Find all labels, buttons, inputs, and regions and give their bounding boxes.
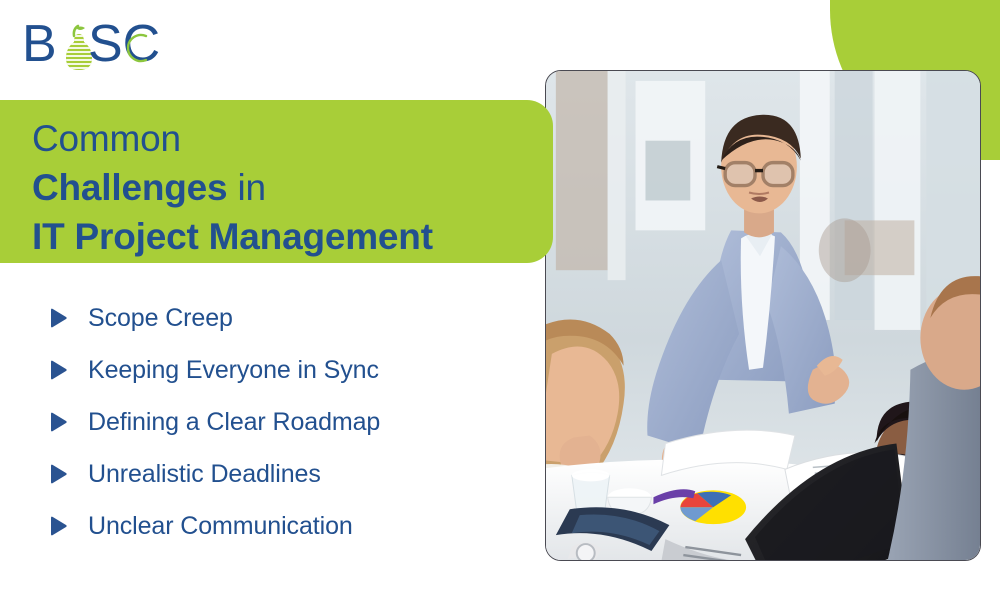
list-item-label: Keeping Everyone in Sync	[88, 356, 379, 385]
heading-line-1: Common	[32, 114, 553, 163]
list-item[interactable]: Keeping Everyone in Sync	[46, 344, 516, 396]
bosc-logo-mark: B	[22, 14, 167, 76]
triangle-right-icon	[46, 306, 70, 330]
heading-banner: Common Challenges in IT Project Manageme…	[0, 100, 553, 263]
svg-text:B: B	[22, 15, 57, 73]
heading-line-2: Challenges in	[32, 163, 553, 212]
svg-text:SC: SC	[88, 15, 160, 73]
list-item-label: Unclear Communication	[88, 512, 353, 541]
meeting-photo-illustration	[546, 71, 980, 560]
heading-line-3-bold: IT Project Management	[32, 216, 433, 257]
heading-line-2-bold: Challenges	[32, 167, 227, 208]
brand-logo[interactable]: B	[22, 14, 167, 76]
challenge-list: Scope Creep Keeping Everyone in Sync Def…	[46, 292, 516, 552]
triangle-right-icon	[46, 462, 70, 486]
list-item[interactable]: Unclear Communication	[46, 500, 516, 552]
heading-line-2-rest: in	[227, 167, 265, 208]
list-item[interactable]: Defining a Clear Roadmap	[46, 396, 516, 448]
list-item[interactable]: Unrealistic Deadlines	[46, 448, 516, 500]
triangle-right-icon	[46, 514, 70, 538]
heading-line-1-text: Common	[32, 118, 181, 159]
triangle-right-icon	[46, 410, 70, 434]
heading-line-3: IT Project Management	[32, 212, 553, 261]
list-item-label: Defining a Clear Roadmap	[88, 408, 380, 437]
slide-root: B	[0, 0, 1000, 600]
list-item-label: Scope Creep	[88, 304, 233, 333]
meeting-photo	[545, 70, 981, 561]
triangle-right-icon	[46, 358, 70, 382]
list-item-label: Unrealistic Deadlines	[88, 460, 321, 489]
list-item[interactable]: Scope Creep	[46, 292, 516, 344]
